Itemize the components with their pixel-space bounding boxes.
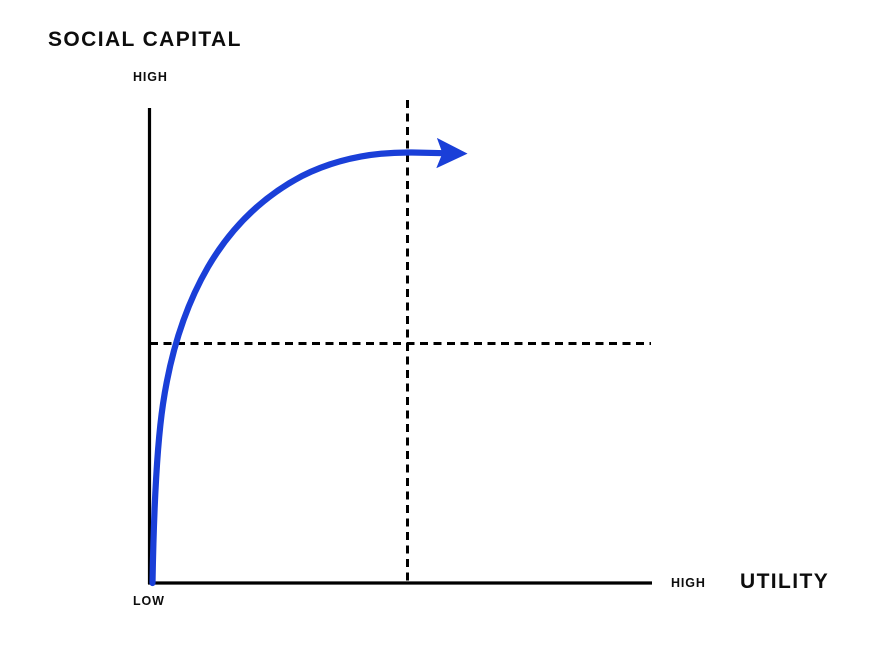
chart-container: SOCIAL CAPITAL HIGH LOW HIGH UTILITY bbox=[0, 0, 882, 667]
chart-canvas bbox=[0, 0, 882, 667]
x-axis-title: UTILITY bbox=[740, 570, 829, 594]
y-axis-high-label: HIGH bbox=[133, 70, 168, 84]
chart-title: SOCIAL CAPITAL bbox=[48, 28, 242, 52]
x-axis-high-label: HIGH bbox=[671, 576, 706, 590]
y-axis-low-label: LOW bbox=[133, 594, 165, 608]
social-capital-curve bbox=[153, 152, 445, 583]
